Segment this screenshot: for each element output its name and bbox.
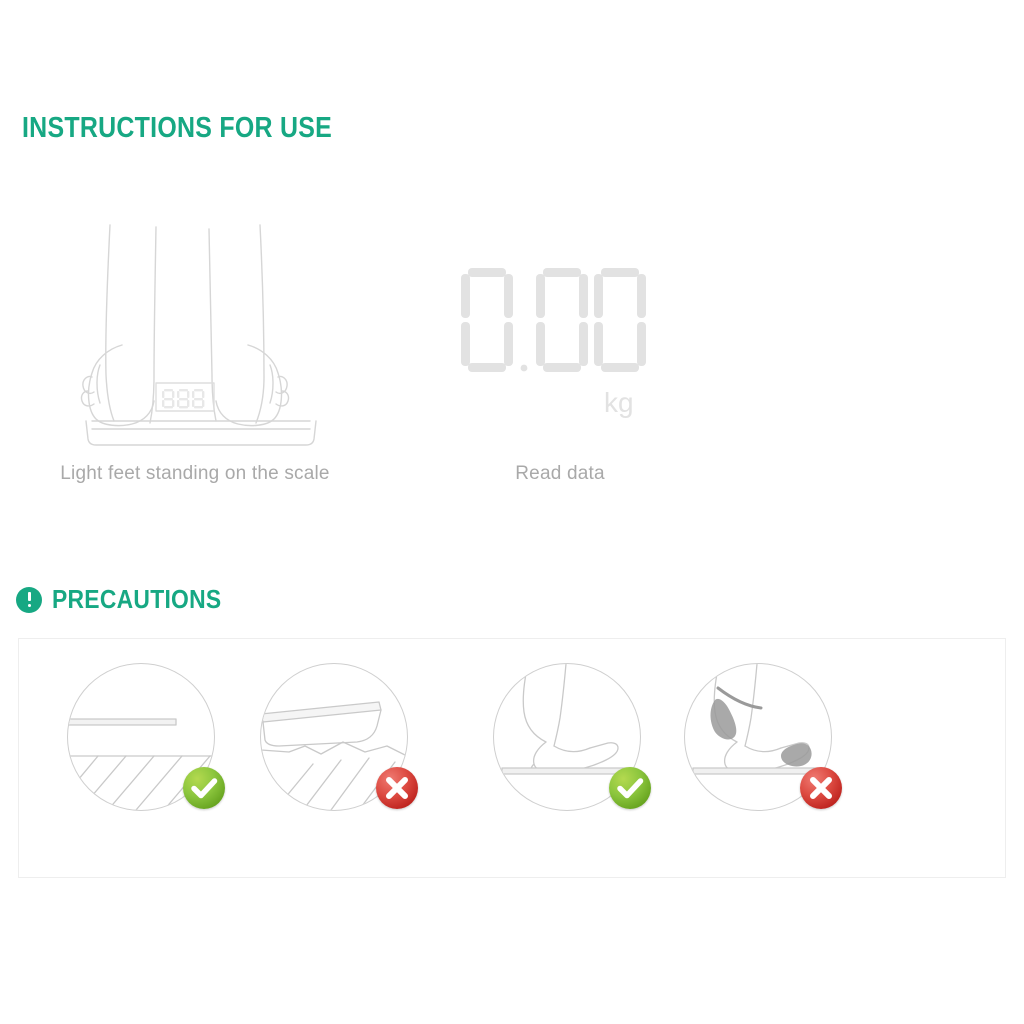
instruction-step-caption: Light feet standing on the scale: [30, 463, 360, 485]
instruction-step-scale: Light feet standing on the scale: [30, 205, 360, 515]
precautions-title: PRECAUTIONS: [52, 584, 221, 615]
instruction-step-read: kg Read data: [420, 205, 700, 515]
precaution-item: [684, 663, 834, 813]
precaution-item: [260, 663, 410, 813]
lcd-digit-0: [461, 268, 513, 372]
lcd-decimal-point: [521, 365, 528, 372]
feet-on-scale-illustration: [30, 205, 360, 455]
check-circle-icon: [183, 767, 225, 809]
precaution-item: [493, 663, 643, 813]
lcd-unit-label: kg: [604, 387, 634, 418]
lcd-digit-1: [536, 268, 588, 372]
instruction-step-caption: Read data: [420, 463, 700, 485]
lcd-digit-2: [594, 268, 646, 372]
scale-display-digits: [162, 389, 204, 408]
instruction-steps: Light feet standing on the scale: [0, 205, 1024, 515]
cross-circle-icon: [376, 767, 418, 809]
precaution-item: [67, 663, 217, 813]
check-circle-icon: [609, 767, 651, 809]
lcd-readout-illustration: kg: [420, 205, 700, 455]
page-title: INSTRUCTIONS FOR USE: [22, 112, 332, 145]
exclamation-circle-icon: [16, 587, 42, 613]
precautions-panel: [18, 638, 1006, 878]
precautions-heading: PRECAUTIONS: [16, 584, 245, 615]
cross-circle-icon: [800, 767, 842, 809]
